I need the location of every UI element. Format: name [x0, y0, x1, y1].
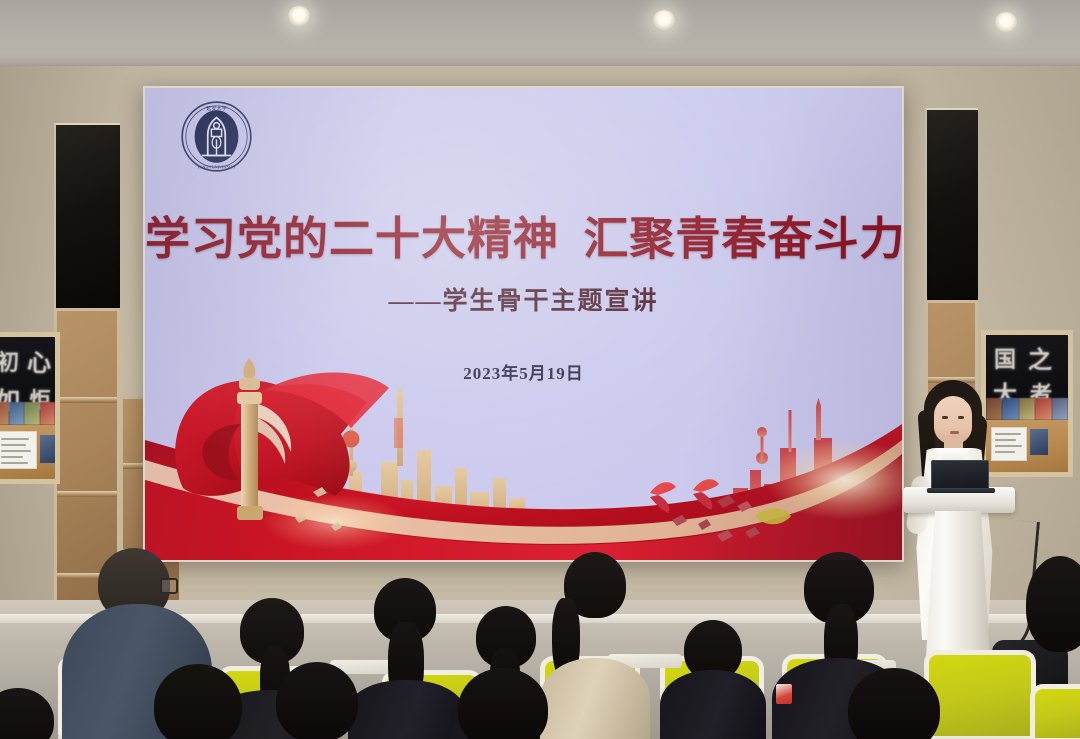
presenter-laptop[interactable]: [931, 460, 989, 490]
cork-area-left: [0, 425, 55, 479]
svg-text:延安大学: 延安大学: [206, 105, 226, 112]
slide-artwork: [145, 88, 902, 560]
notice-photo-left: [40, 435, 59, 463]
audience-member-7: [660, 620, 766, 739]
audience-head-10: [458, 668, 548, 739]
audience-head-11: [848, 668, 940, 739]
audience-member-10: [436, 668, 566, 739]
wall-recess-left: [54, 123, 120, 310]
ceiling: [0, 0, 1080, 72]
audience-head-13: [0, 688, 54, 739]
chair-8[interactable]: [1030, 684, 1080, 739]
presenter-face: [934, 396, 972, 444]
ceiling-light-1: [288, 6, 310, 26]
audience-member-13: [0, 688, 62, 739]
photo-strip-left: [0, 402, 55, 425]
audience-head-12: [1026, 556, 1080, 652]
ceiling-light-2: [653, 10, 675, 30]
audience-member-12: [1026, 556, 1080, 676]
audience-badge-6: [776, 684, 792, 704]
projection-screen[interactable]: 延安大学 YANAN UNIVERSITY 学习党的二十大精神 汇聚青春奋斗力量…: [145, 88, 902, 560]
chalk-char-left-2: 心: [27, 343, 51, 378]
audience-member-11: [828, 668, 954, 739]
chalk-char-left-1: 初: [0, 345, 19, 377]
audience-member-8: [128, 664, 268, 739]
slide-title: 学习党的二十大精神 汇聚青春奋斗力量: [145, 210, 902, 268]
audience-head-8: [154, 664, 242, 739]
audience-glasses-1: [160, 578, 178, 594]
audience-head-9: [276, 662, 358, 739]
lecture-hall-scene: 初 心 如 炬 国 之 大 者: [0, 0, 1080, 739]
university-crest-icon: 延安大学 YANAN UNIVERSITY: [180, 100, 253, 173]
wall-recess-right: [925, 108, 978, 302]
notice-photo-right: [1030, 429, 1048, 455]
svg-text:YANAN UNIVERSITY: YANAN UNIVERSITY: [197, 165, 236, 170]
slide-subtitle: ——学生骨干主题宣讲: [145, 286, 902, 318]
left-bulletin-board: 初 心 如 炬: [0, 332, 60, 484]
slide-date: 2023年5月19日: [145, 363, 902, 385]
ribbon-highlight-2: [263, 494, 407, 550]
chalk-char-right-2: 之: [1028, 340, 1052, 375]
audience-member-9: [258, 662, 376, 739]
audience-torso-7: [660, 670, 766, 739]
ceiling-light-3: [995, 12, 1017, 32]
chalk-char-right-1: 国: [994, 342, 1016, 374]
notice-sheet-left: [0, 431, 37, 469]
